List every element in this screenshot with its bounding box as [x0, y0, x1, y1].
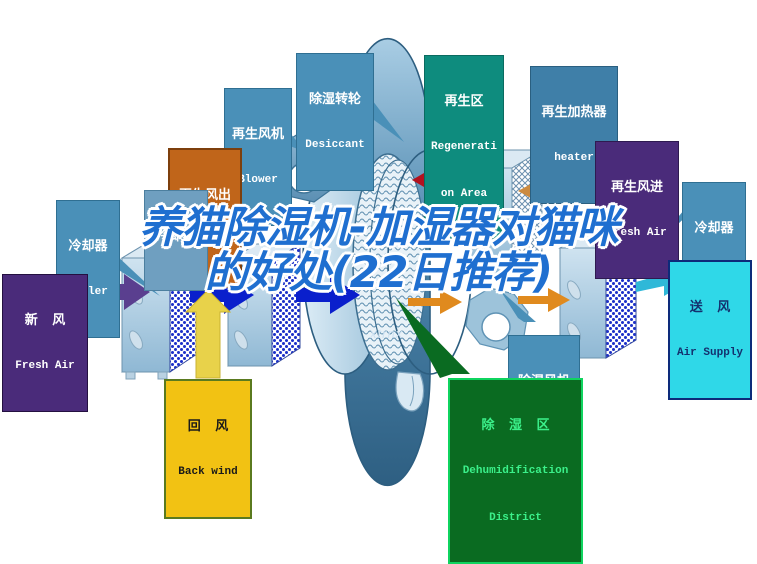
label-cooler-left-cn: 冷却器 — [59, 239, 117, 253]
label-dehumidification-district[interactable]: 除 湿 区 Dehumidification District — [448, 378, 583, 564]
label-cooler-mid-cn: 冷却器 — [147, 229, 205, 243]
label-back-wind[interactable]: 回 风 Back wind — [164, 379, 252, 519]
label-fresh-air-inlet-cn: 新 风 — [5, 313, 85, 327]
label-air-supply-cn: 送 风 — [672, 300, 748, 314]
label-dehumidification-district-en2: District — [452, 513, 579, 525]
label-air-supply-en: Air Supply — [672, 348, 748, 360]
label-desiccant-wheel-cn: 除湿转轮 — [299, 92, 371, 106]
label-regeneration-blower-cn: 再生风机 — [227, 127, 289, 141]
label-cooler-mid[interactable]: 冷却器 — [144, 190, 208, 291]
label-regeneration-air-inlet-en: Fresh Air — [598, 228, 676, 240]
label-regeneration-air-inlet[interactable]: 再生风进 Fresh Air — [595, 141, 679, 279]
label-regeneration-heater-cn: 再生加热器 — [533, 105, 615, 119]
label-regeneration-area-cn: 再生区 — [427, 94, 501, 108]
label-regeneration-area[interactable]: 再生区 Regenerati on Area — [424, 55, 504, 239]
label-desiccant-wheel-en: Desiccant — [299, 140, 371, 152]
label-back-wind-en: Back wind — [168, 467, 248, 479]
label-regeneration-area-en1: Regenerati — [427, 142, 501, 154]
label-dehumidification-district-en1: Dehumidification — [452, 466, 579, 478]
label-cooler-right-cn: 冷却器 — [685, 221, 743, 235]
label-regeneration-area-en2: on Area — [427, 189, 501, 201]
label-air-supply[interactable]: 送 风 Air Supply — [668, 260, 752, 400]
label-dehumidification-district-cn: 除 湿 区 — [452, 418, 579, 432]
label-back-wind-cn: 回 风 — [168, 419, 248, 433]
diagram-canvas: xtrnx 除湿转轮 Desiccant 再生风机 Blower 再生区 Reg… — [0, 0, 757, 488]
label-regeneration-air-inlet-cn: 再生风进 — [598, 180, 676, 194]
label-fresh-air-inlet-en: Fresh Air — [5, 361, 85, 373]
label-fresh-air-inlet[interactable]: 新 风 Fresh Air — [2, 274, 88, 412]
label-desiccant-wheel[interactable]: 除湿转轮 Desiccant — [296, 53, 374, 191]
